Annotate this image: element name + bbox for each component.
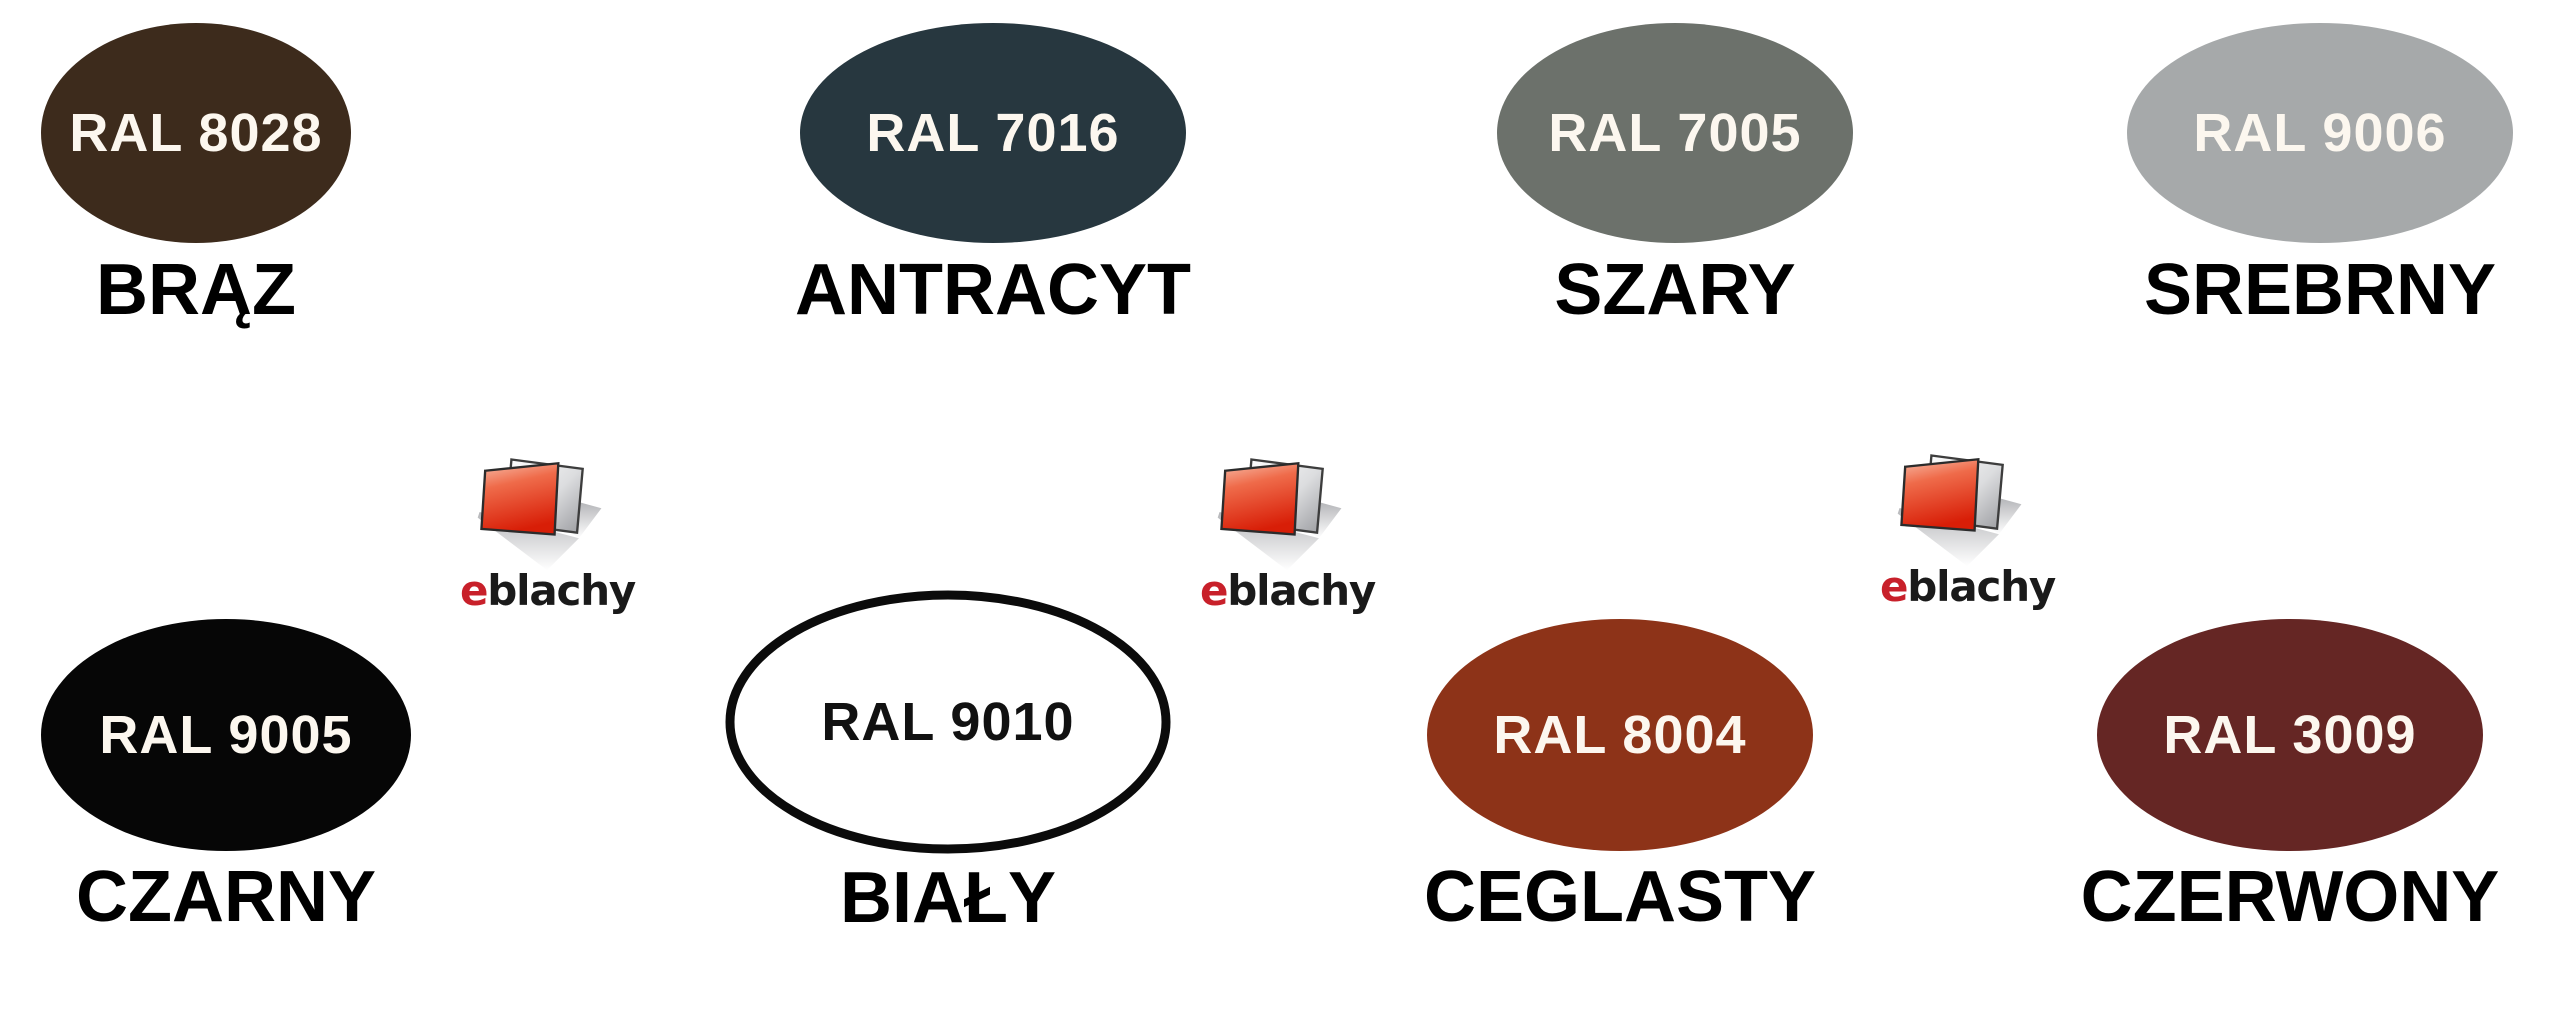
- color-name-label: CZARNY: [76, 861, 376, 933]
- swatch-ral-8004[interactable]: RAL 8004 CEGLASTY: [1420, 615, 1820, 933]
- eblachy-wordmark: eblachy: [1200, 570, 1390, 612]
- eblachy-logo[interactable]: eblachy: [460, 452, 650, 624]
- swatch-oval-ral-9005[interactable]: RAL 9005: [36, 615, 416, 855]
- ellipse-shape: [2127, 23, 2513, 243]
- logo-initial: e: [1200, 566, 1227, 615]
- ellipse-shape: [1497, 23, 1853, 243]
- swatch-oval-ral-7016[interactable]: RAL 7016: [793, 18, 1193, 248]
- eblachy-logo[interactable]: eblachy: [1200, 452, 1390, 624]
- swatch-oval-ral-7005[interactable]: RAL 7005: [1490, 18, 1860, 248]
- color-name-label: BRĄZ: [96, 254, 296, 326]
- color-name-label: SREBRNY: [2144, 254, 2496, 326]
- ellipse-shape: [800, 23, 1186, 243]
- color-name-label: CZERWONY: [2081, 861, 2500, 933]
- color-name-label: SZARY: [1554, 254, 1795, 326]
- swatch-oval-ral-8028[interactable]: RAL 8028: [36, 18, 356, 248]
- ellipse-shape: [2097, 619, 2483, 851]
- ellipse-shape: [730, 595, 1166, 849]
- swatch-ral-3009[interactable]: RAL 3009 CZERWONY: [2090, 615, 2490, 933]
- swatch-oval-ral-3009[interactable]: RAL 3009: [2090, 615, 2490, 855]
- swatch-ral-9006[interactable]: RAL 9006 SREBRNY: [2120, 18, 2520, 326]
- swatch-ral-9010[interactable]: RAL 9010 BIAŁY: [723, 588, 1173, 934]
- swatch-oval-ral-9006[interactable]: RAL 9006: [2120, 18, 2520, 248]
- eblachy-logo[interactable]: eblachy: [1880, 448, 2070, 620]
- swatch-ral-8028[interactable]: RAL 8028 BRĄZ: [36, 18, 356, 326]
- swatch-oval-ral-9010[interactable]: RAL 9010: [723, 588, 1173, 856]
- logo-word: blachy: [487, 566, 635, 615]
- swatch-board: RAL 8028 BRĄZ RAL 7016 ANTRACYT RAL 7005…: [0, 0, 2560, 1032]
- eblachy-sheet-metal-icon: [1208, 452, 1368, 572]
- eblachy-sheet-metal-icon: [468, 452, 628, 572]
- swatch-ral-9005[interactable]: RAL 9005 CZARNY: [36, 615, 416, 933]
- logo-word: blachy: [1227, 566, 1375, 615]
- color-name-label: BIAŁY: [840, 862, 1056, 934]
- ellipse-shape: [1427, 619, 1813, 851]
- color-name-label: CEGLASTY: [1424, 861, 1816, 933]
- logo-word: blachy: [1907, 562, 2055, 611]
- swatch-oval-ral-8004[interactable]: RAL 8004: [1420, 615, 1820, 855]
- eblachy-wordmark: eblachy: [460, 570, 650, 612]
- color-name-label: ANTRACYT: [795, 254, 1191, 326]
- swatch-ral-7016[interactable]: RAL 7016 ANTRACYT: [793, 18, 1193, 326]
- eblachy-wordmark: eblachy: [1880, 566, 2070, 608]
- logo-initial: e: [1880, 562, 1907, 611]
- logo-initial: e: [460, 566, 487, 615]
- ellipse-shape: [41, 23, 351, 243]
- eblachy-sheet-metal-icon: [1888, 448, 2048, 568]
- swatch-ral-7005[interactable]: RAL 7005 SZARY: [1490, 18, 1860, 326]
- ellipse-shape: [41, 619, 411, 851]
